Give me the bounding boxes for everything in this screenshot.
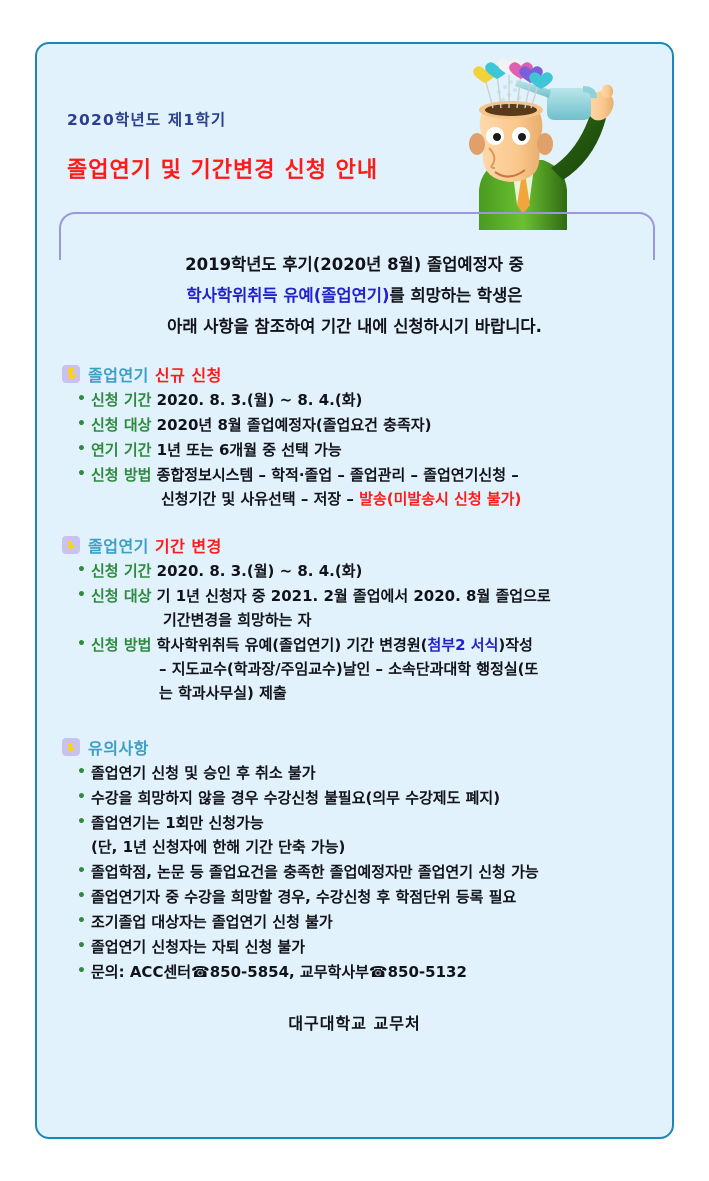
intro-highlight: 학사학위취득 유예(졸업연기) — [187, 286, 390, 305]
list-item: 신청 대상 2020년 8월 졸업예정자(졸업요건 충족자) — [77, 413, 672, 437]
section-1-title: 졸업연기신규 신청 — [88, 362, 222, 386]
intro-line-2-rest: 를 희망하는 학생은 — [390, 286, 523, 305]
section-period-change: 졸업연기기간 변경 신청 기간 2020. 8. 3.(월) ~ 8. 4.(화… — [37, 533, 672, 705]
item-label: 신청 기간 — [91, 391, 151, 409]
arrow-down-right-icon — [62, 738, 80, 756]
intro-paragraph: 2019학년도 후기(2020년 8월) 졸업예정자 중 학사학위취득 유예(졸… — [37, 249, 672, 342]
section-2-title-main: 졸업연기 — [88, 537, 149, 556]
section-new-application: 졸업연기신규 신청 신청 기간 2020. 8. 3.(월) ~ 8. 4.(화… — [37, 362, 672, 511]
list-item: 신청 방법 학사학위취득 유예(졸업연기) 기간 변경원(첨부2 서식)작성 –… — [77, 633, 672, 705]
section-3-header: 유의사항 — [37, 735, 672, 759]
page-title: 졸업연기 및 기간변경신청 안내 — [67, 152, 378, 184]
list-item: 졸업연기자 중 수강을 희망할 경우, 수강신청 후 학점단위 등록 필요 — [77, 885, 672, 909]
section-1-title-main: 졸업연기 — [88, 366, 149, 385]
section-notes: 유의사항 졸업연기 신청 및 승인 후 취소 불가 수강을 희망하지 않을 경우… — [37, 735, 672, 984]
item-continuation-accent: 발송(미발송시 신청 불가) — [359, 490, 521, 508]
item-continuation: – 지도교수(학과장/주임교수)날인 – 소속단과대학 행정실(또 — [91, 657, 672, 681]
section-2-items: 신청 기간 2020. 8. 3.(월) ~ 8. 4.(화) 신청 대상 기 … — [37, 559, 672, 705]
page-title-part2: 신청 안내 — [284, 158, 378, 183]
announcement-poster: 2020학년도 제1학기 졸업연기 및 기간변경신청 안내 — [35, 42, 674, 1139]
section-1-header: 졸업연기신규 신청 — [37, 362, 672, 386]
list-item: 연기 기간 1년 또는 6개월 중 선택 가능 — [77, 438, 672, 462]
section-2-title-accent: 기간 변경 — [155, 537, 222, 556]
section-2-title: 졸업연기기간 변경 — [88, 533, 222, 557]
item-text: 1년 또는 6개월 중 선택 가능 — [157, 441, 342, 459]
list-item: 신청 기간 2020. 8. 3.(월) ~ 8. 4.(화) — [77, 559, 672, 583]
list-item: 신청 기간 2020. 8. 3.(월) ~ 8. 4.(화) — [77, 388, 672, 412]
contact-line: 문의: ACC센터☎850-5854, 교무학사부☎850-5132 — [77, 960, 672, 984]
section-3-items: 졸업연기 신청 및 승인 후 취소 불가 수강을 희망하지 않을 경우 수강신청… — [37, 761, 672, 984]
page-title-part1: 졸업연기 및 기간변경 — [67, 158, 275, 183]
section-1-items: 신청 기간 2020. 8. 3.(월) ~ 8. 4.(화) 신청 대상 20… — [37, 388, 672, 511]
section-1-title-accent: 신규 신청 — [155, 366, 222, 385]
list-item: 졸업연기 신청 및 승인 후 취소 불가 — [77, 761, 672, 785]
poster-body: 졸업연기신규 신청 신청 기간 2020. 8. 3.(월) ~ 8. 4.(화… — [37, 362, 672, 988]
item-text: 학사학위취득 유예(졸업연기) 기간 변경원( — [157, 636, 428, 654]
item-continuation: 기간변경을 희망하는 자 — [91, 608, 672, 632]
intro-line-3: 아래 사항을 참조하여 기간 내에 신청하시기 바랍니다. — [37, 311, 672, 342]
item-label: 연기 기간 — [91, 441, 151, 459]
item-label: 신청 방법 — [91, 636, 151, 654]
list-item: 조기졸업 대상자는 졸업연기 신청 불가 — [77, 910, 672, 934]
intro-line-2: 학사학위취득 유예(졸업연기)를 희망하는 학생은 — [37, 280, 672, 311]
item-text: 기 1년 신청자 중 2021. 2월 졸업에서 2020. 8월 졸업으로 — [157, 587, 551, 605]
item-continuation-text: 신청기간 및 사유선택 – 저장 – — [161, 490, 359, 508]
section-3-title: 유의사항 — [88, 735, 149, 759]
attachment-form-link[interactable]: 첨부2 서식 — [428, 636, 499, 654]
item-label: 신청 대상 — [91, 416, 151, 434]
list-item: 졸업학점, 논문 등 졸업요건을 충족한 졸업예정자만 졸업연기 신청 가능 — [77, 860, 672, 884]
list-item: 졸업연기는 1회만 신청가능 (단, 1년 신청자에 한해 기간 단축 가능) — [77, 811, 672, 859]
semester-eyebrow: 2020학년도 제1학기 — [67, 108, 226, 130]
item-text: 2020. 8. 3.(월) ~ 8. 4.(화) — [157, 562, 363, 580]
item-label: 신청 방법 — [91, 466, 151, 484]
list-item: 신청 방법 종합정보시스템 – 학적·졸업 – 졸업관리 – 졸업연기신청 – … — [77, 463, 672, 511]
item-text: 2020년 8월 졸업예정자(졸업요건 충족자) — [157, 416, 432, 434]
item-text: 종합정보시스템 – 학적·졸업 – 졸업관리 – 졸업연기신청 – — [157, 466, 519, 484]
item-continuation: 신청기간 및 사유선택 – 저장 – 발송(미발송시 신청 불가) — [91, 487, 672, 511]
poster-header: 2020학년도 제1학기 졸업연기 및 기간변경신청 안내 — [37, 44, 672, 222]
man-watering-head-plants-illustration — [451, 42, 666, 230]
arrow-down-right-icon — [62, 536, 80, 554]
item-text: 졸업연기는 1회만 신청가능 — [91, 814, 264, 832]
item-text: 2020. 8. 3.(월) ~ 8. 4.(화) — [157, 391, 363, 409]
item-label: 신청 대상 — [91, 587, 151, 605]
item-label: 신청 기간 — [91, 562, 151, 580]
intro-line-1: 2019학년도 후기(2020년 8월) 졸업예정자 중 — [37, 249, 672, 280]
footer-issuer: 대구대학교 교무처 — [37, 1010, 672, 1034]
list-item: 졸업연기 신청자는 자퇴 신청 불가 — [77, 935, 672, 959]
section-2-header: 졸업연기기간 변경 — [37, 533, 672, 557]
list-item: 신청 대상 기 1년 신청자 중 2021. 2월 졸업에서 2020. 8월 … — [77, 584, 672, 632]
item-text-post: )작성 — [498, 636, 532, 654]
list-item: 수강을 희망하지 않을 경우 수강신청 불필요(의무 수강제도 폐지) — [77, 786, 672, 810]
item-continuation-2: 는 학과사무실) 제출 — [91, 681, 672, 705]
item-continuation: (단, 1년 신청자에 한해 기간 단축 가능) — [91, 835, 672, 859]
arrow-down-right-icon — [62, 365, 80, 383]
